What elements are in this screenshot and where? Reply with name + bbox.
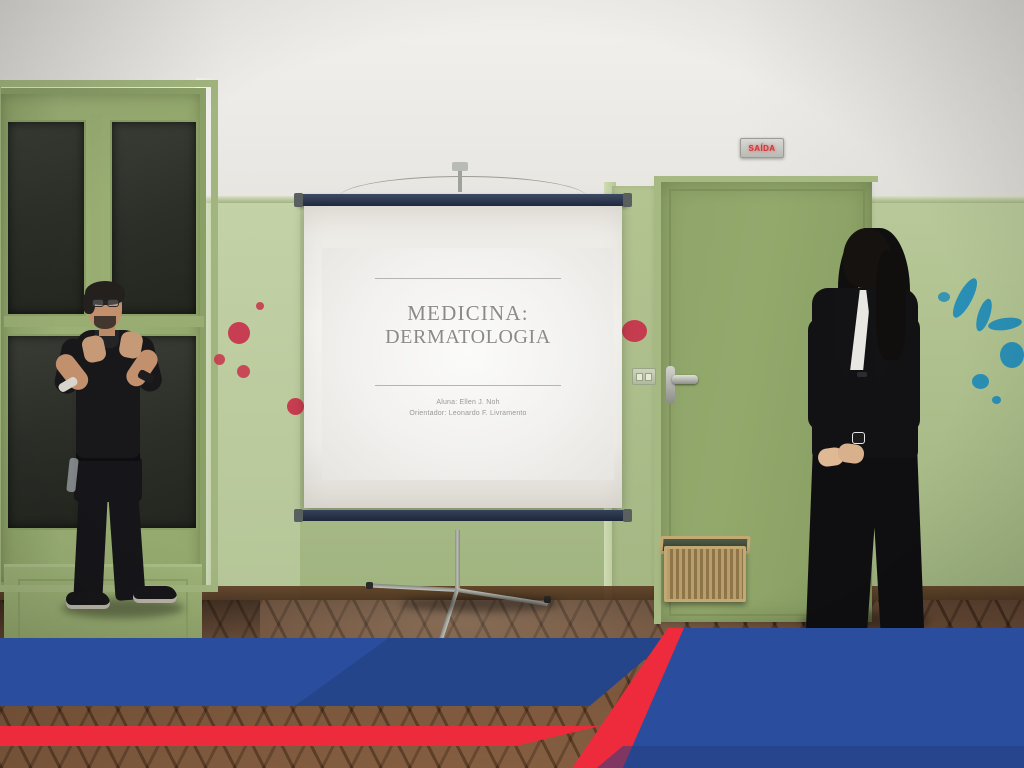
trousers	[74, 456, 142, 502]
screen-top-bar	[298, 194, 628, 206]
screen-bar-cap	[623, 193, 632, 207]
shoe	[133, 586, 177, 603]
slide-divider-top	[375, 278, 561, 279]
wide-leg-trousers	[806, 442, 924, 628]
screen-hanger-post	[458, 168, 462, 192]
eyeglass-lens	[92, 299, 104, 307]
eyeglasses-icon	[92, 299, 122, 307]
slide-title-line1: MEDICINA:	[385, 301, 551, 326]
screen-hanger-knob	[452, 162, 468, 171]
light-switch-rocker[interactable]	[636, 373, 643, 381]
wall-splash-blue	[1000, 342, 1024, 368]
hair-side	[876, 250, 906, 360]
wall-dot-red	[237, 365, 250, 378]
tripod-post	[455, 530, 460, 592]
presentation-slide: MEDICINA: DERMATOLOGIA Aluna: Ellen J. N…	[324, 256, 612, 476]
slide-student: Aluna: Ellen J. Noh	[409, 398, 526, 408]
photo-scene: SAÍDA MEDICINA: DERMATOLOGIA	[0, 0, 1024, 768]
banner-blue-block-shade	[588, 746, 1024, 768]
shoe	[66, 592, 110, 609]
screen-bar-cap	[294, 193, 303, 207]
wall-dot-red	[256, 302, 264, 310]
light-switch-rocker[interactable]	[645, 373, 652, 381]
tripod-shadow	[400, 596, 560, 612]
light-switch-plate[interactable]	[632, 368, 656, 385]
screen-bar-cap	[623, 509, 632, 522]
slide-title-line2: DERMATOLOGIA	[385, 326, 551, 350]
leg	[73, 493, 108, 602]
screen-canvas: MEDICINA: DERMATOLOGIA Aluna: Ellen J. N…	[304, 206, 622, 508]
bottom-banner: Humana na formação, incomparável nos res…	[0, 628, 1024, 768]
banner-red-stripe	[0, 726, 600, 746]
slide-divider-bottom	[375, 385, 561, 386]
exit-sign-label: SAÍDA	[749, 144, 776, 153]
beard	[94, 316, 116, 329]
wall-dot-red	[228, 322, 250, 344]
slide-title: MEDICINA: DERMATOLOGIA	[385, 301, 551, 349]
slide-credits: Aluna: Ellen J. Noh Orientador: Leonardo…	[409, 398, 526, 418]
wall-dot-red	[214, 354, 225, 365]
arm-left	[808, 318, 834, 430]
door-handle-lever[interactable]	[672, 375, 698, 384]
wall-splash-blue	[938, 292, 950, 302]
door-escutcheon	[666, 366, 675, 404]
projection-screen: MEDICINA: DERMATOLOGIA Aluna: Ellen J. N…	[298, 188, 628, 538]
wicker-basket	[664, 546, 746, 602]
exit-sign: SAÍDA	[740, 138, 784, 158]
blazer-button	[857, 372, 867, 377]
smartwatch	[852, 432, 865, 444]
screen-bottom-bar	[298, 510, 628, 521]
eyeglass-lens	[107, 299, 119, 307]
wall-splash-blue	[972, 374, 989, 389]
screen-bar-cap	[294, 509, 303, 522]
slide-advisor: Orientador: Leonardo F. Livramento	[409, 409, 526, 419]
tripod-foot	[366, 582, 373, 589]
wall-splash-blue	[992, 396, 1001, 404]
